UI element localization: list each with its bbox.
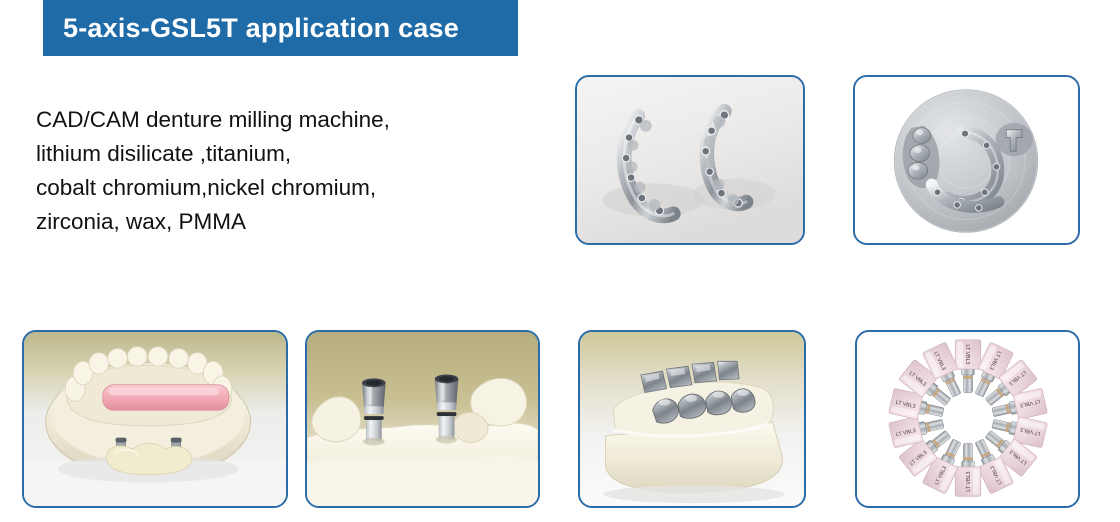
- photo-panel-gingiva-model: [22, 330, 288, 508]
- description-block: CAD/CAM denture milling machine, lithium…: [36, 103, 536, 239]
- photo-panel-metal-frameworks: [575, 75, 805, 245]
- metal-crowns-image: [580, 332, 804, 506]
- photo-panel-abutments: [305, 330, 540, 508]
- ceramic-blocks-image: LT VBL3LT VBL3LT VBL3LT VBL3LT VBL3LT VB…: [857, 332, 1078, 506]
- ceramic-block-label: LT VBL3: [964, 344, 970, 364]
- photo-panel-ceramic-blocks: LT VBL3LT VBL3LT VBL3LT VBL3LT VBL3LT VB…: [855, 330, 1080, 508]
- milled-disc-image: [855, 77, 1078, 243]
- abutments-image: [307, 332, 538, 506]
- description-line-3: cobalt chromium,nickel chromium,: [36, 171, 536, 205]
- gingiva-model-image: [24, 332, 286, 506]
- ceramic-block-label: LT VBL3: [966, 471, 972, 491]
- description-line-1: CAD/CAM denture milling machine,: [36, 103, 536, 137]
- description-line-4: zirconia, wax, PMMA: [36, 205, 536, 239]
- description-line-2: lithium disilicate ,titanium,: [36, 137, 536, 171]
- photo-panel-milled-disc: [853, 75, 1080, 245]
- page-title: 5-axis-GSL5T application case: [43, 13, 459, 44]
- metal-frameworks-image: [577, 77, 803, 243]
- page-title-banner: 5-axis-GSL5T application case: [43, 0, 518, 56]
- photo-panel-metal-crowns: [578, 330, 806, 508]
